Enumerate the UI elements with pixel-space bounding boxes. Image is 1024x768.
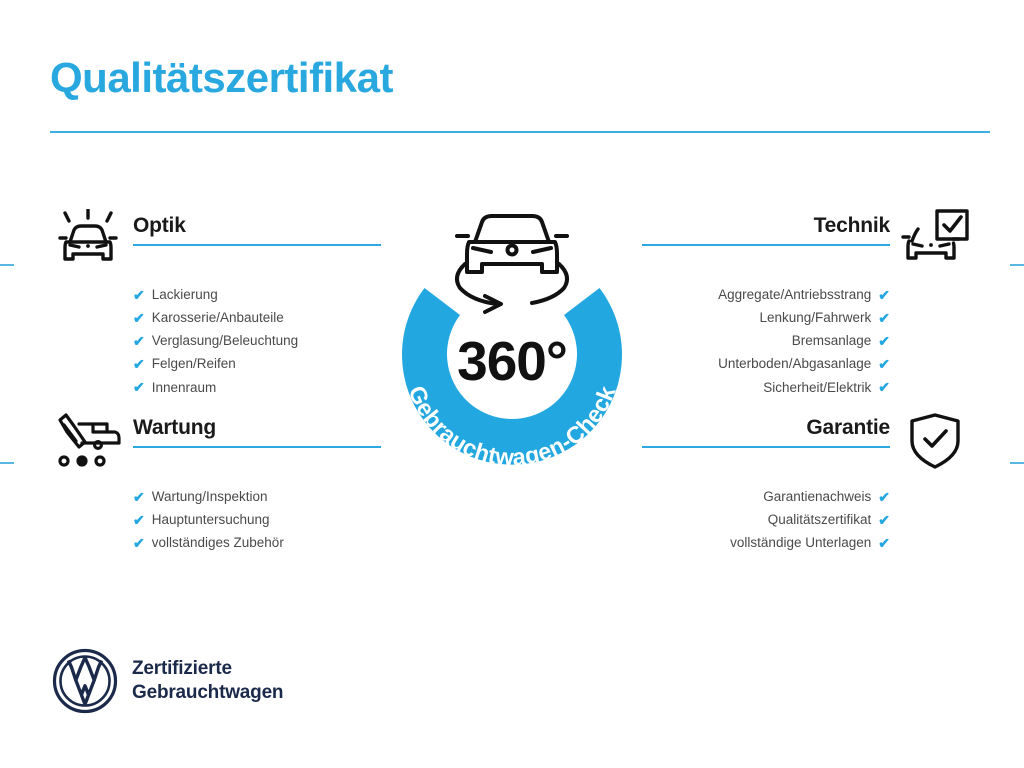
- section-technik: Technik Aggregate/Antriebsstrang✔ Lenkun…: [638, 208, 978, 399]
- list-item: vollständige Unterlagen✔: [638, 531, 890, 554]
- list-item-label: Felgen/Reifen: [152, 357, 236, 371]
- list-item: ✔Lackierung: [133, 283, 385, 306]
- check-icon: ✔: [133, 334, 145, 348]
- section-wartung: Wartung ✔Wartung/Inspektion ✔Hauptunters…: [45, 410, 385, 555]
- section-wartung-title: Wartung: [133, 416, 381, 446]
- list-item-label: Innenraum: [152, 381, 217, 395]
- list-item: Lenkung/Fahrwerk✔: [638, 306, 890, 329]
- section-garantie-list: Garantienachweis✔ Qualitätszertifikat✔ v…: [638, 485, 978, 555]
- section-wartung-underline: [133, 446, 381, 448]
- section-optik-header: Optik: [45, 208, 385, 270]
- list-item: Qualitätszertifikat✔: [638, 508, 890, 531]
- section-optik: Optik ✔Lackierung ✔Karosserie/Anbauteile…: [45, 208, 385, 399]
- check-icon: ✔: [878, 536, 890, 550]
- list-item: ✔Innenraum: [133, 376, 385, 399]
- list-item-label: Bremsanlage: [792, 334, 872, 348]
- section-technik-list: Aggregate/Antriebsstrang✔ Lenkung/Fahrwe…: [638, 283, 978, 399]
- car-service-dipstick-icon: [45, 410, 131, 472]
- check-icon: ✔: [133, 311, 145, 325]
- section-garantie-title-wrap: Garantie: [642, 416, 890, 448]
- volkswagen-logo: [52, 648, 118, 714]
- section-technik-title-wrap: Technik: [642, 214, 890, 246]
- car-rotate-icon: [457, 216, 567, 312]
- list-item-label: vollständige Unterlagen: [730, 536, 871, 550]
- list-item-label: Garantienachweis: [763, 490, 871, 504]
- list-item-label: Hauptuntersuchung: [152, 513, 270, 527]
- section-wartung-title-wrap: Wartung: [133, 416, 381, 448]
- section-technik-underline: [642, 244, 890, 246]
- section-technik-title: Technik: [642, 214, 890, 244]
- shield-check-icon: [892, 410, 978, 472]
- title-divider: [50, 131, 990, 133]
- check-icon: ✔: [878, 334, 890, 348]
- list-item: ✔Karosserie/Anbauteile: [133, 306, 385, 329]
- page-title: Qualitätszertifikat: [50, 57, 393, 99]
- list-item: Sicherheit/Elektrik✔: [638, 376, 890, 399]
- logo-text-line2: Gebrauchtwagen: [132, 681, 283, 705]
- check-icon: ✔: [133, 288, 145, 302]
- gebrauchtwagen-check-badge: Gebrauchtwagen-Check 360°: [372, 196, 652, 496]
- section-optik-list: ✔Lackierung ✔Karosserie/Anbauteile ✔Verg…: [45, 283, 385, 399]
- list-item-label: Wartung/Inspektion: [152, 490, 268, 504]
- section-garantie-header: Garantie: [638, 410, 978, 472]
- car-front-shine-icon: [45, 208, 131, 270]
- section-optik-underline: [133, 244, 381, 246]
- list-item-label: Unterboden/Abgasanlage: [718, 357, 871, 371]
- car-front-checkbox-icon: [892, 208, 978, 270]
- check-icon: ✔: [878, 513, 890, 527]
- volkswagen-logo-text: Zertifizierte Gebrauchtwagen: [132, 657, 283, 706]
- crop-mark-left-bottom: [0, 462, 14, 464]
- section-garantie: Garantie Garantienachweis✔ Qualitätszert…: [638, 410, 978, 555]
- list-item-label: Lenkung/Fahrwerk: [759, 311, 871, 325]
- section-wartung-list: ✔Wartung/Inspektion ✔Hauptuntersuchung ✔…: [45, 485, 385, 555]
- check-icon: ✔: [133, 380, 145, 394]
- check-icon: ✔: [878, 311, 890, 325]
- list-item-label: vollständiges Zubehör: [152, 536, 284, 550]
- check-icon: ✔: [878, 380, 890, 394]
- list-item-label: Karosserie/Anbauteile: [152, 311, 284, 325]
- section-technik-header: Technik: [638, 208, 978, 270]
- list-item-label: Qualitätszertifikat: [768, 513, 872, 527]
- check-icon: ✔: [878, 490, 890, 504]
- list-item: ✔Verglasung/Beleuchtung: [133, 329, 385, 352]
- check-icon: ✔: [133, 490, 145, 504]
- check-icon: ✔: [878, 357, 890, 371]
- section-optik-title-wrap: Optik: [133, 214, 381, 246]
- list-item: Aggregate/Antriebsstrang✔: [638, 283, 890, 306]
- certificate-page: Qualitätszertifikat: [0, 0, 1024, 768]
- list-item: Garantienachweis✔: [638, 485, 890, 508]
- list-item: ✔vollständiges Zubehör: [133, 531, 385, 554]
- list-item-label: Verglasung/Beleuchtung: [152, 334, 298, 348]
- logo-text-line1: Zertifizierte: [132, 657, 283, 681]
- check-icon: ✔: [133, 357, 145, 371]
- section-wartung-header: Wartung: [45, 410, 385, 472]
- check-icon: ✔: [878, 288, 890, 302]
- list-item: Unterboden/Abgasanlage✔: [638, 353, 890, 376]
- section-garantie-underline: [642, 446, 890, 448]
- check-icon: ✔: [133, 513, 145, 527]
- section-optik-title: Optik: [133, 214, 381, 244]
- crop-mark-left-top: [0, 264, 14, 266]
- volkswagen-logo-block: Zertifizierte Gebrauchtwagen: [52, 648, 283, 714]
- list-item-label: Lackierung: [152, 288, 218, 302]
- crop-mark-right-bottom: [1010, 462, 1024, 464]
- section-garantie-title: Garantie: [642, 416, 890, 446]
- list-item: ✔Felgen/Reifen: [133, 353, 385, 376]
- crop-mark-right-top: [1010, 264, 1024, 266]
- list-item: Bremsanlage✔: [638, 329, 890, 352]
- list-item: ✔Wartung/Inspektion: [133, 485, 385, 508]
- list-item-label: Aggregate/Antriebsstrang: [718, 288, 871, 302]
- list-item-label: Sicherheit/Elektrik: [763, 381, 871, 395]
- badge-center-value: 360°: [372, 334, 652, 389]
- check-icon: ✔: [133, 536, 145, 550]
- list-item: ✔Hauptuntersuchung: [133, 508, 385, 531]
